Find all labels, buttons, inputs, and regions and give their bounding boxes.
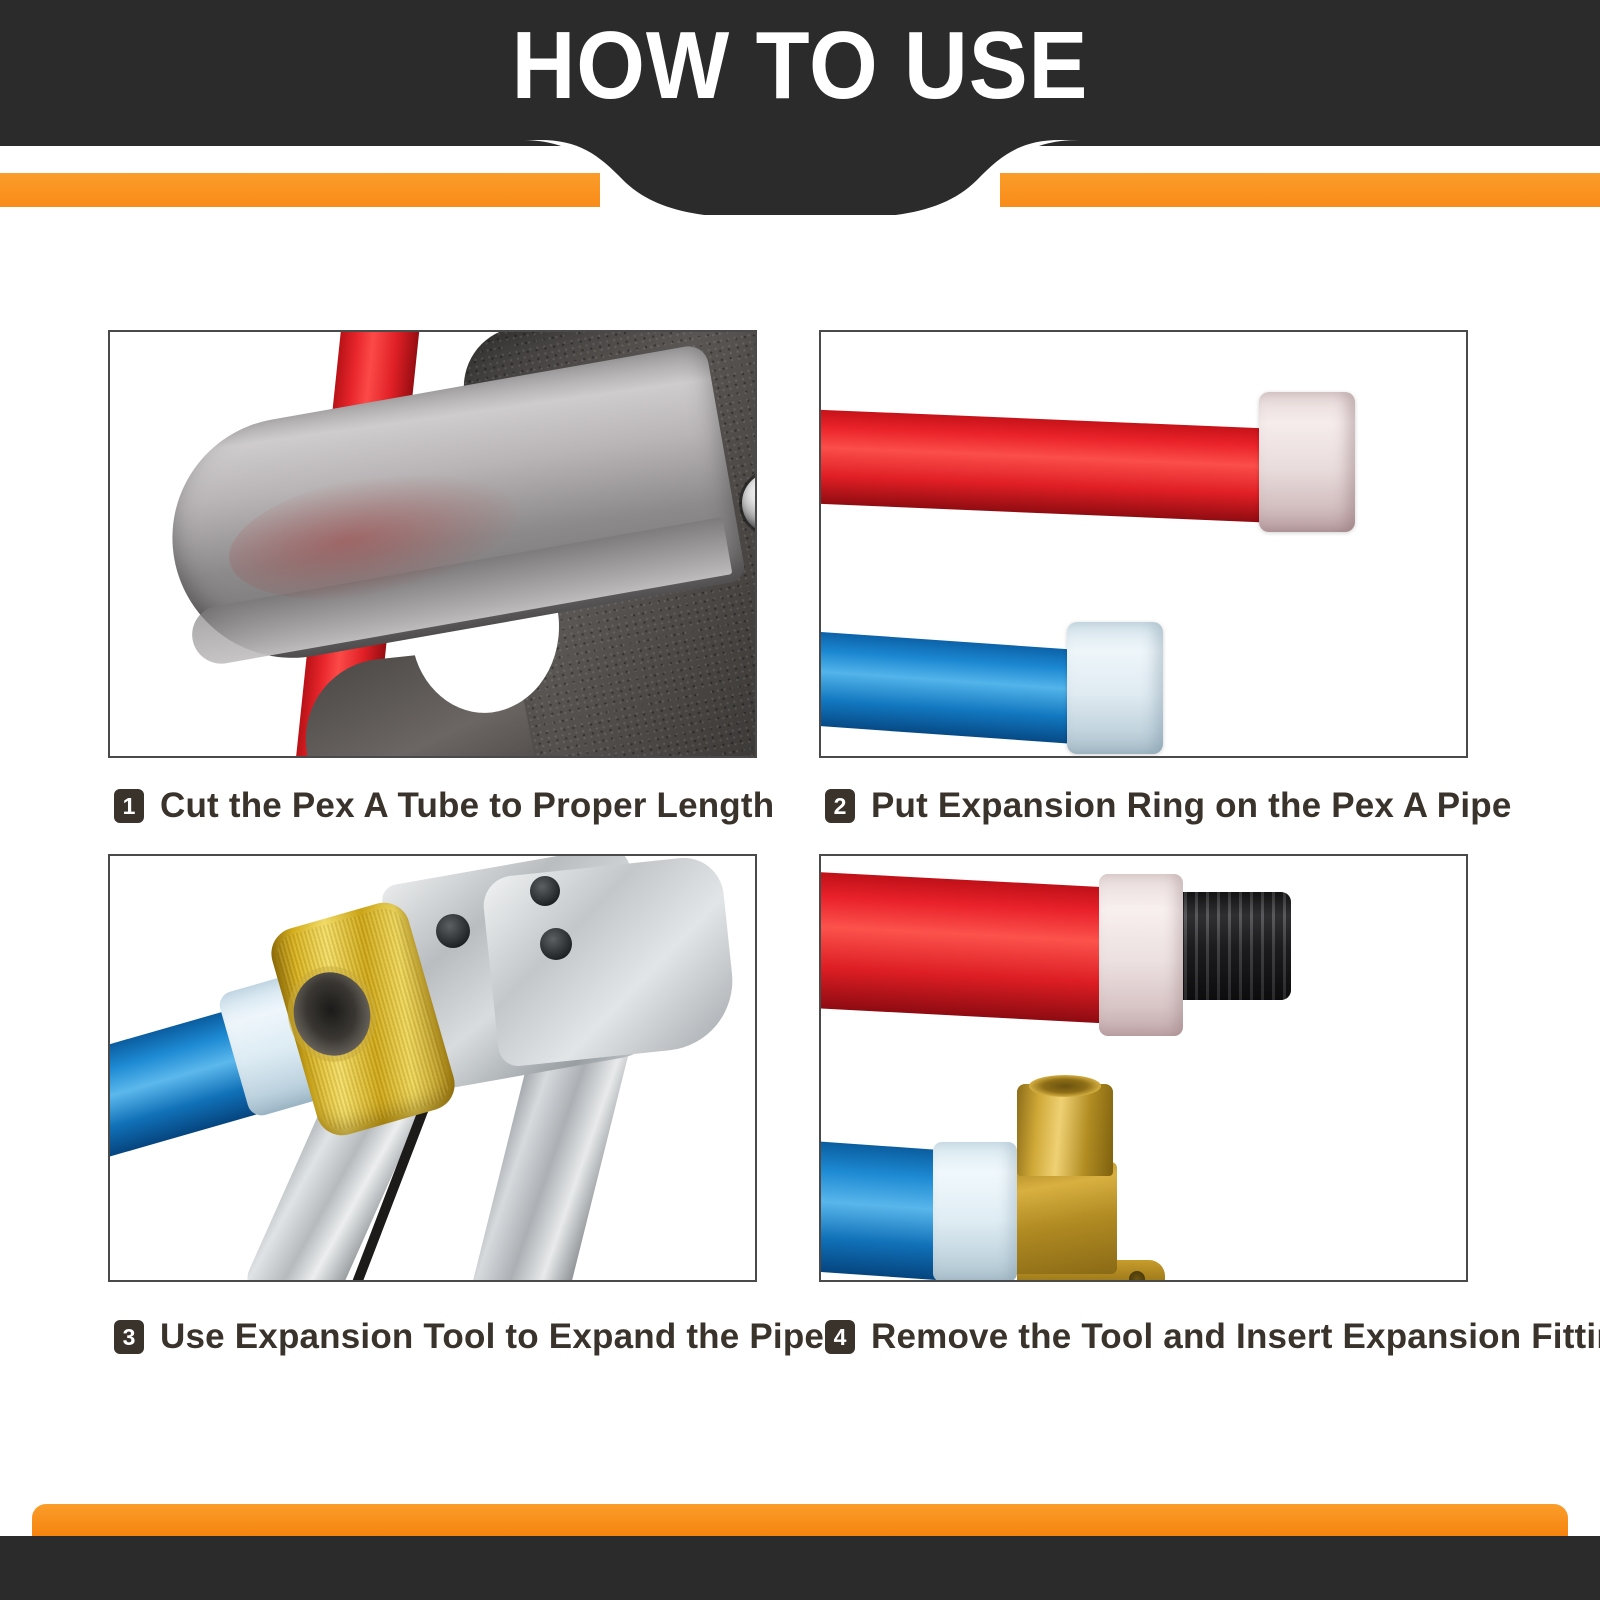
step-2-caption-text: Put Expansion Ring on the Pex A Pipe [871, 786, 1512, 826]
step-3: 3 Use Expansion Tool to Expand the Pipe [108, 854, 759, 1392]
step-4-caption: 4 Remove the Tool and Insert Expansion F… [819, 1282, 1470, 1392]
step-4: 4 Remove the Tool and Insert Expansion F… [819, 854, 1470, 1392]
brass-elbow-riser [1017, 1084, 1113, 1176]
tool-pivot-hole [436, 914, 470, 948]
step-2: 2 Put Expansion Ring on the Pex A Pipe [819, 330, 1470, 854]
tool-body-right [481, 854, 740, 1068]
red-expansion-ring [1099, 874, 1183, 1036]
pipe-cutter-illustration [110, 332, 755, 756]
step-1-caption: 1 Cut the Pex A Tube to Proper Length [108, 758, 759, 854]
step-2-number-badge: 2 [825, 789, 855, 823]
footer-dark-band [0, 1536, 1600, 1600]
blue-expansion-ring [1067, 622, 1163, 754]
step-4-photo [819, 854, 1468, 1282]
step-1-photo [108, 330, 757, 758]
tool-pivot-hole [530, 876, 560, 906]
step-1-caption-text: Cut the Pex A Tube to Proper Length [160, 786, 774, 826]
red-expansion-ring [1259, 392, 1355, 532]
step-1: 1 Cut the Pex A Tube to Proper Length [108, 330, 759, 854]
step-4-number-badge: 4 [825, 1320, 855, 1354]
brass-elbow-body [1009, 1162, 1117, 1274]
step-3-photo [108, 854, 757, 1282]
step-1-number-badge: 1 [114, 789, 144, 823]
black-expansion-fitting [1173, 892, 1291, 1000]
pipes-with-rings-illustration [821, 332, 1466, 756]
header-tab-mask [0, 140, 1600, 215]
step-2-caption: 2 Put Expansion Ring on the Pex A Pipe [819, 758, 1470, 854]
step-2-photo [819, 330, 1468, 758]
step-4-caption-text: Remove the Tool and Insert Expansion Fit… [871, 1317, 1600, 1357]
page-header: HOW TO USE [0, 0, 1600, 215]
red-pex-pipe [819, 872, 1124, 1024]
fittings-illustration [821, 856, 1466, 1280]
expansion-tool-illustration [110, 856, 755, 1280]
footer-accent-bar [32, 1504, 1568, 1536]
tool-pivot-hole [540, 928, 572, 960]
red-pex-pipe [819, 410, 1315, 525]
blue-expansion-ring [933, 1142, 1017, 1282]
page-title: HOW TO USE [64, 14, 1536, 118]
step-3-caption: 3 Use Expansion Tool to Expand the Pipe [108, 1282, 759, 1392]
step-3-number-badge: 3 [114, 1320, 144, 1354]
steps-grid: 1 Cut the Pex A Tube to Proper Length 2 … [108, 330, 1470, 1392]
step-3-caption-text: Use Expansion Tool to Expand the Pipe [160, 1317, 824, 1357]
